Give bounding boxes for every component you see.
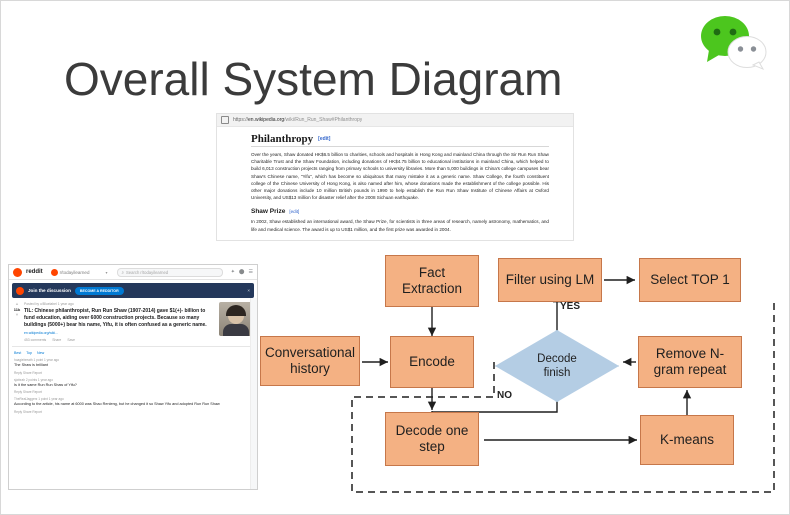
section-title: Philanthropy: [251, 133, 313, 145]
thumbnail-body: [223, 324, 249, 336]
edit-link-2[interactable]: [edit]: [289, 209, 299, 214]
node-decode-finish[interactable]: Decode finish: [495, 330, 619, 402]
node-conversational-history[interactable]: Conversational history: [260, 336, 360, 386]
node-remove-ngram-repeat[interactable]: Remove N- gram repeat: [638, 336, 742, 388]
thumbnail-hair: [226, 305, 246, 316]
subreddit-name: r/todayilearned: [60, 270, 90, 275]
list-item: sjwbrah 2 points 1 year ago Is it the sa…: [9, 375, 257, 395]
node-select-top-1[interactable]: Select TOP 1: [639, 258, 741, 302]
wikipedia-screenshot: https://en.wikipedia.org/wiki/Run_Run_Sh…: [216, 113, 574, 241]
node-fact-extraction[interactable]: Fact Extraction: [385, 255, 479, 307]
user-icon[interactable]: ⬤: [239, 269, 245, 275]
wikipedia-url: https://en.wikipedia.org/wiki/Run_Run_Sh…: [233, 117, 362, 123]
node-label: Fact Extraction: [402, 265, 462, 297]
reddit-brand[interactable]: reddit: [26, 269, 43, 275]
wikipedia-article-body: Philanthropy[edit] Over the years, Shaw …: [217, 127, 573, 233]
url-scheme: https://: [233, 117, 248, 123]
node-filter-using-lm[interactable]: Filter using LM: [498, 258, 602, 302]
node-label: Select TOP 1: [650, 272, 730, 288]
comment-body: The Shaw is brilliant: [14, 363, 252, 369]
join-discussion-banner: Join the discussion BECOME A REDDITOR ×: [12, 283, 254, 298]
url-path: /wiki/Run_Run_Shaw#Philanthropy: [284, 117, 362, 123]
post-meta: Posted by u/Bluelabel 1 year ago: [24, 302, 216, 306]
node-label: Decode finish: [495, 330, 619, 402]
wikipedia-url-bar[interactable]: https://en.wikipedia.org/wiki/Run_Run_Sh…: [217, 114, 573, 127]
node-label: Filter using LM: [506, 272, 595, 288]
close-icon[interactable]: ×: [247, 288, 250, 293]
node-label: Decode one step: [396, 423, 469, 455]
post-thumbnail[interactable]: [219, 302, 253, 336]
menu-icon[interactable]: ☰: [249, 269, 253, 275]
edge-decision-no-path: [432, 402, 557, 412]
node-k-means[interactable]: K-means: [640, 415, 734, 465]
node-label: Remove N- gram repeat: [654, 346, 727, 378]
page-title: Overall System Diagram: [64, 52, 562, 106]
wechat-logo: [697, 12, 769, 70]
node-label: Conversational history: [265, 345, 355, 377]
upvote-icon[interactable]: ▲: [15, 302, 19, 306]
flowchart: Fact Extraction Filter using LM Select T…: [258, 248, 782, 498]
reddit-post: ▲ 11k ▼ Posted by u/Bluelabel 1 year ago…: [9, 298, 257, 342]
edge-label-yes: YES: [560, 301, 580, 312]
search-placeholder: Search r/todayilearned: [126, 270, 168, 275]
comment-meta: sjwbrah 2 points 1 year ago: [14, 378, 252, 382]
wechat-white-bubble: [728, 37, 766, 70]
post-main: Posted by u/Bluelabel 1 year ago TIL: Ch…: [24, 302, 216, 342]
comment-meta: hoagiebreath 1 point 1 year ago: [14, 358, 252, 362]
banner-text: Join the discussion: [28, 288, 71, 293]
post-comments-action[interactable]: 453 comments: [24, 338, 46, 342]
divider: [12, 346, 254, 347]
slide: Overall System Diagram https://en.wikipe…: [0, 0, 790, 515]
sort-top[interactable]: Top: [26, 351, 32, 355]
subsection-title: Shaw Prize: [251, 208, 285, 215]
list-item: hoagiebreath 1 point 1 year ago The Shaw…: [9, 355, 257, 375]
url-domain: en.wikipedia.org: [248, 117, 284, 123]
reddit-logo-icon[interactable]: [13, 268, 22, 277]
comment-body: Is it the same Run Run Shaw of Yifu?: [14, 383, 252, 389]
downvote-icon[interactable]: ▼: [15, 313, 19, 317]
comment-actions[interactable]: Reply Share Report: [14, 410, 252, 414]
node-label: Encode: [409, 354, 455, 370]
comment-body: According to the article, his name at 60…: [14, 402, 252, 408]
vote-column: ▲ 11k ▼: [13, 302, 21, 342]
node-encode[interactable]: Encode: [390, 336, 474, 388]
sort-best[interactable]: Best: [14, 351, 21, 355]
wikipedia-subsection-paragraph: In 2002, Shaw established an internation…: [251, 218, 549, 232]
sort-new[interactable]: New: [37, 351, 44, 355]
reddit-screenshot: reddit r/todayilearned ▾ ⌕ Search r/toda…: [8, 264, 258, 490]
reddit-banner-icon: [16, 287, 24, 295]
scrollbar[interactable]: [250, 298, 257, 489]
wikipedia-subsection-heading: Shaw Prize[edit]: [251, 208, 549, 215]
subreddit-icon: [51, 269, 58, 276]
wikipedia-paragraph: Over the years, Shaw donated HK$6.5 bill…: [251, 151, 549, 201]
post-share-action[interactable]: Share: [52, 338, 61, 342]
spark-icon[interactable]: ✦: [231, 269, 235, 275]
post-title[interactable]: TIL: Chinese philanthropist, Run Run Sha…: [24, 308, 216, 329]
post-link[interactable]: en.wikipedia.org/wiki...: [24, 331, 216, 335]
search-input[interactable]: ⌕ Search r/todayilearned: [117, 268, 222, 277]
comment-meta: TheRealJaggerz 1 point 1 year ago: [14, 397, 252, 401]
wikipedia-section-heading: Philanthropy[edit]: [251, 133, 549, 147]
node-decode-one-step[interactable]: Decode one step: [385, 412, 479, 466]
lock-icon: [221, 116, 229, 124]
edit-link[interactable]: [edit]: [318, 136, 330, 142]
list-item: TheRealJaggerz 1 point 1 year ago Accord…: [9, 394, 257, 414]
post-save-action[interactable]: Save: [67, 338, 75, 342]
edge-label-no: NO: [497, 390, 512, 401]
subreddit-selector[interactable]: r/todayilearned ▾: [51, 269, 108, 276]
become-redditor-button[interactable]: BECOME A REDDITOR: [75, 287, 124, 295]
post-actions: 453 comments Share Save: [24, 338, 216, 342]
chevron-down-icon: ▾: [105, 270, 107, 275]
node-label: K-means: [660, 432, 714, 448]
reddit-top-bar: reddit r/todayilearned ▾ ⌕ Search r/toda…: [9, 265, 257, 280]
search-icon: ⌕: [121, 270, 124, 275]
